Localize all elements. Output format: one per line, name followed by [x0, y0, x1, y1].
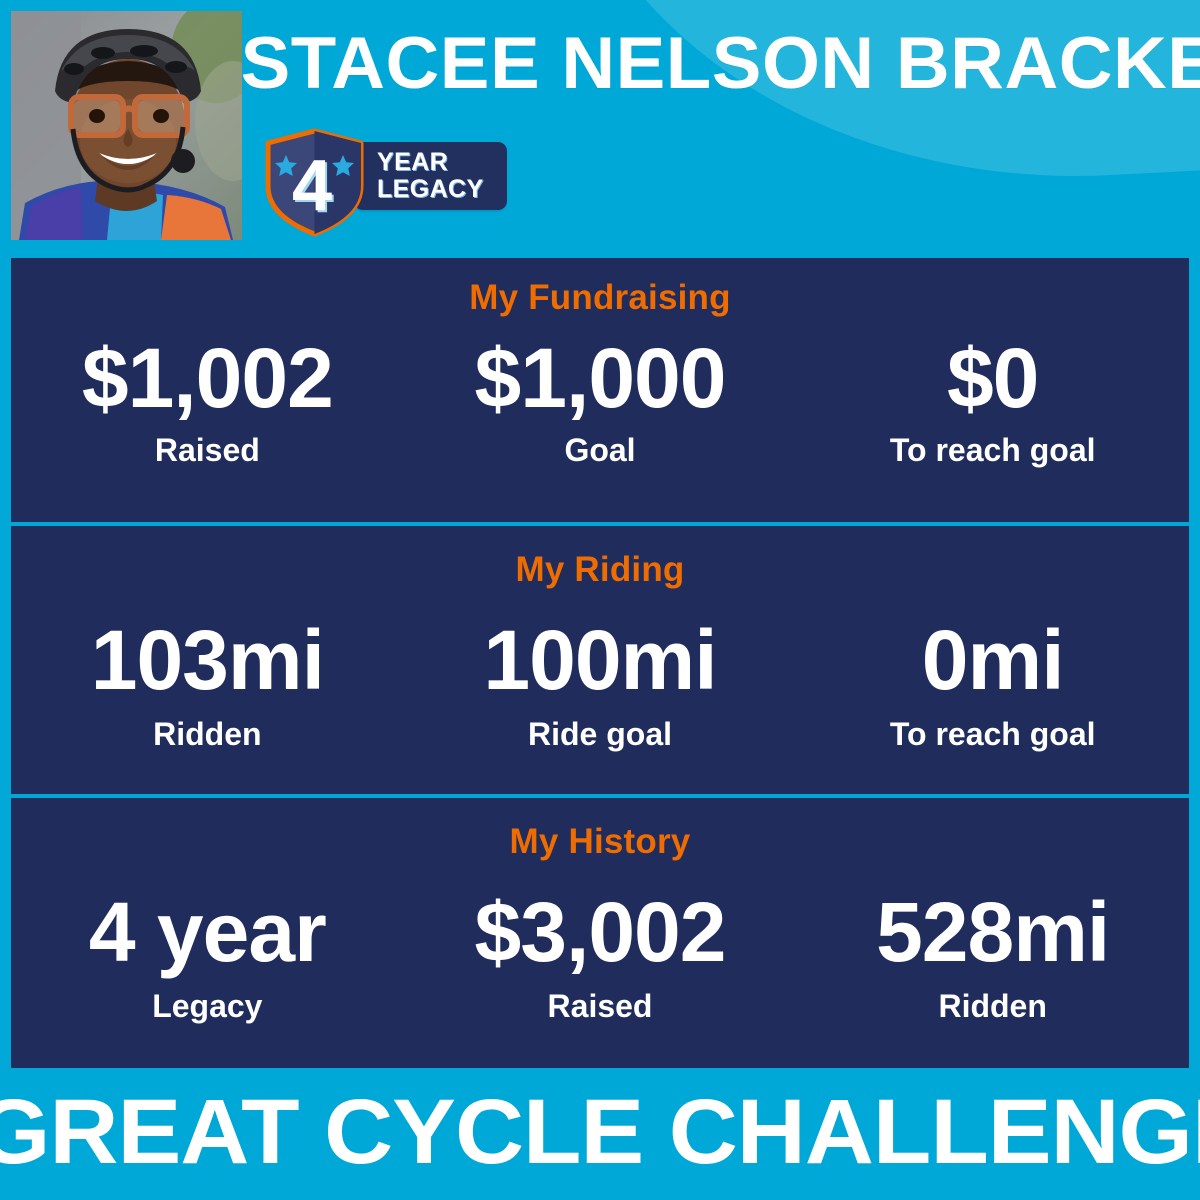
stat-cell-ride-goal: 100mi Ride goal	[404, 590, 797, 754]
section-title-fundraising: My Fundraising	[11, 278, 1189, 318]
stat-row: 4 year Legacy $3,002 Raised 528mi Ridden	[11, 862, 1189, 1026]
legacy-badge: YEAR LEGACY 4 4	[262, 128, 507, 238]
stat-cell-lifetime-ridden: 528mi Ridden	[796, 862, 1189, 1026]
stat-cell-goal: $1,000 Goal	[404, 318, 797, 470]
legacy-plate-text: YEAR LEGACY	[377, 149, 484, 203]
legacy-line-2: LEGACY	[377, 176, 484, 203]
stat-value: 0mi	[802, 614, 1183, 706]
poster-footer: GREAT CYCLE CHALLENGE	[0, 1068, 1200, 1200]
stat-label: Ridden	[17, 714, 398, 754]
legacy-year-number: 4	[292, 146, 332, 226]
stat-value: 528mi	[802, 886, 1183, 978]
legacy-plate: YEAR LEGACY	[354, 142, 507, 210]
stat-cell-legacy: 4 year Legacy	[11, 862, 404, 1026]
stat-cell-raised: $1,002 Raised	[11, 318, 404, 470]
stat-cell-ridden: 103mi Ridden	[11, 590, 404, 754]
section-title-riding: My Riding	[11, 550, 1189, 590]
fundraising-poster: STACEE NELSON BRACKENS YEAR LEGACY 4	[0, 0, 1200, 1200]
stat-label: To reach goal	[802, 430, 1183, 470]
page-title: STACEE NELSON BRACKENS	[241, 24, 1200, 104]
stat-label: To reach goal	[802, 714, 1183, 754]
poster-header: STACEE NELSON BRACKENS YEAR LEGACY 4	[0, 0, 1200, 258]
stat-value: $0	[802, 332, 1183, 424]
section-title-history: My History	[11, 822, 1189, 862]
stat-value: 100mi	[410, 614, 791, 706]
legacy-line-1: YEAR	[377, 149, 484, 176]
stat-label: Ridden	[802, 986, 1183, 1026]
stat-row: 103mi Ridden 100mi Ride goal 0mi To reac…	[11, 590, 1189, 754]
stat-label: Raised	[17, 430, 398, 470]
stat-value: $1,002	[17, 332, 398, 424]
stats-panel: My Fundraising $1,002 Raised $1,000 Goal…	[11, 258, 1189, 1068]
stat-row: $1,002 Raised $1,000 Goal $0 To reach go…	[11, 318, 1189, 470]
brand-logo-text: GREAT CYCLE CHALLENGE	[0, 1082, 1200, 1182]
stat-cell-miles-to-goal: 0mi To reach goal	[796, 590, 1189, 754]
stat-label: Goal	[410, 430, 791, 470]
stat-cell-to-reach-goal: $0 To reach goal	[796, 318, 1189, 470]
stat-label: Ride goal	[410, 714, 791, 754]
section-fundraising: My Fundraising $1,002 Raised $1,000 Goal…	[11, 258, 1189, 526]
section-history: My History 4 year Legacy $3,002 Raised 5…	[11, 798, 1189, 1068]
avatar	[11, 11, 242, 240]
stat-value: $3,002	[410, 886, 791, 978]
stat-label: Raised	[410, 986, 791, 1026]
shield-icon: 4 4	[262, 128, 367, 238]
stat-cell-lifetime-raised: $3,002 Raised	[404, 862, 797, 1026]
stat-value: 103mi	[17, 614, 398, 706]
stat-value: $1,000	[410, 332, 791, 424]
section-riding: My Riding 103mi Ridden 100mi Ride goal 0…	[11, 526, 1189, 798]
stat-value: 4 year	[17, 886, 398, 978]
stat-label: Legacy	[17, 986, 398, 1026]
